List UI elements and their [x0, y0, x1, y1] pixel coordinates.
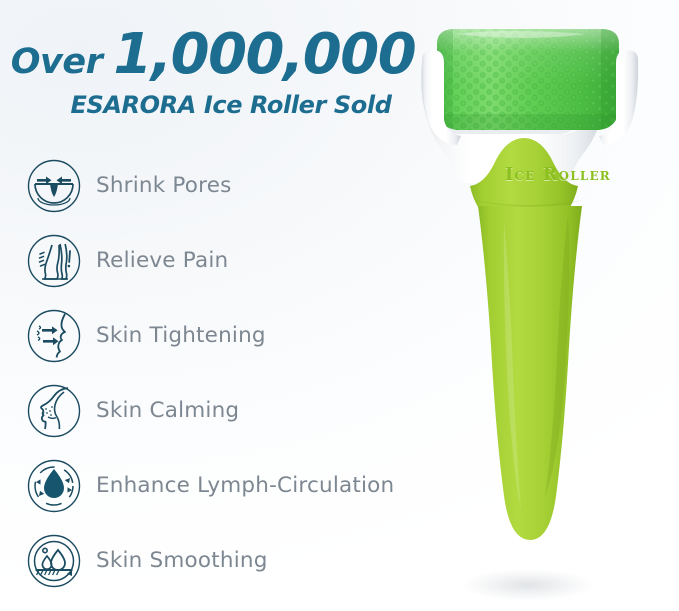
- feature-item-relieve-pain: Relieve Pain: [26, 223, 426, 298]
- face-calming-icon: [26, 383, 82, 439]
- headline-number: 1,000,000: [113, 22, 415, 87]
- droplet-circulation-icon: [26, 458, 82, 514]
- feature-item-skin-smoothing: Skin Smoothing: [26, 523, 426, 598]
- feature-item-shrink-pores: Shrink Pores: [26, 148, 426, 223]
- feature-label: Shrink Pores: [96, 173, 232, 198]
- feature-label: Skin Calming: [96, 398, 239, 423]
- legs-pain-icon: [26, 233, 82, 289]
- droplets-surface-icon: [26, 533, 82, 589]
- headline-prefix: Over: [11, 42, 103, 82]
- headline-row: Over 1,000,000: [0, 22, 420, 87]
- feature-item-skin-calming: Skin Calming: [26, 373, 426, 448]
- pore-arrows-icon: [26, 158, 82, 214]
- feature-item-skin-tightening: Skin Tightening: [26, 298, 426, 373]
- headline-block: Over 1,000,000 ESARORA Ice Roller Sold: [0, 22, 420, 119]
- feature-label: Enhance Lymph-Circulation: [96, 473, 394, 498]
- headline-subline: ESARORA Ice Roller Sold: [0, 91, 420, 119]
- face-tightening-arrows-icon: [26, 308, 82, 364]
- product-image-ice-roller: Ice Roller: [408, 10, 679, 611]
- feature-label: Relieve Pain: [96, 248, 228, 273]
- feature-label: Skin Smoothing: [96, 548, 268, 573]
- feature-list: Shrink Pores: [26, 148, 426, 598]
- ice-roller-illustration: [408, 10, 679, 611]
- product-marketing-image: Over 1,000,000 ESARORA Ice Roller Sold S…: [0, 0, 679, 611]
- feature-item-lymph-circulation: Enhance Lymph-Circulation: [26, 448, 426, 523]
- feature-label: Skin Tightening: [96, 323, 266, 348]
